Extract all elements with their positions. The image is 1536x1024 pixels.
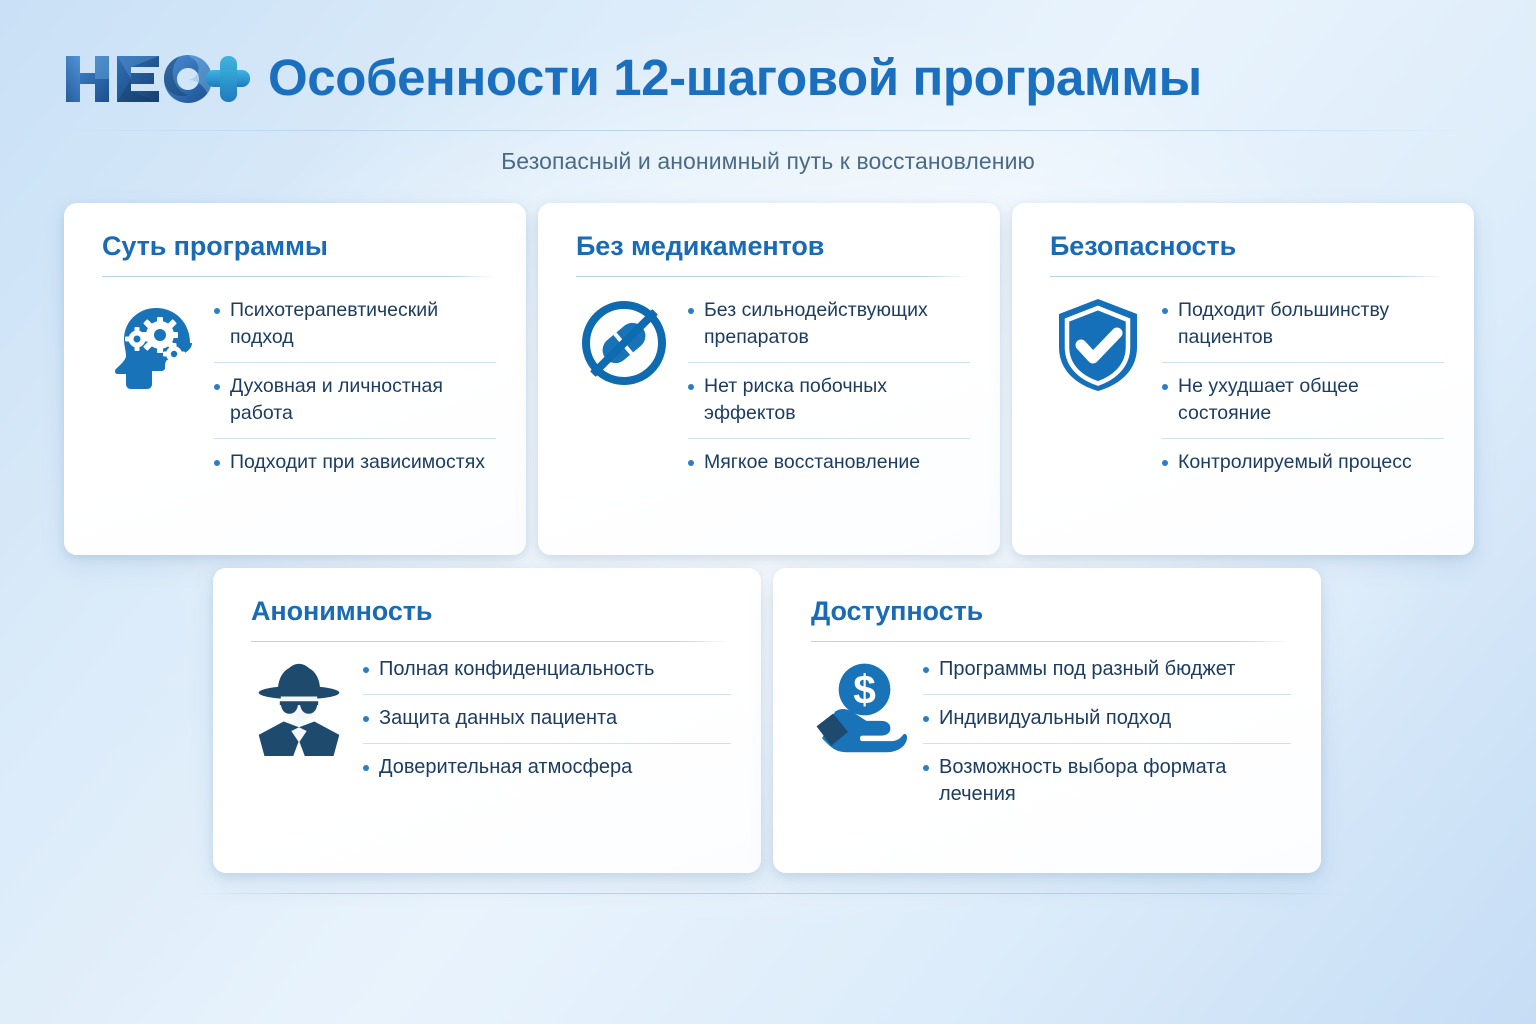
bullet-text: Духовная и личностная работа [230, 373, 496, 427]
bullet-dot-icon [1162, 384, 1168, 390]
bullet-item: Подходит большинству пациентов [1162, 295, 1444, 363]
bullet-text: Программы под разный бюджет [939, 656, 1291, 683]
bullet-dot-icon [363, 716, 369, 722]
header-divider [62, 130, 1474, 131]
card-anon: Анонимность [213, 568, 761, 873]
bullet-text: Подходит при зависимостях [230, 449, 496, 476]
bullet-dot-icon [688, 460, 694, 466]
bullet-item: Полная конфиденциальность [363, 654, 731, 695]
bullet-item: Психотерапевтический подход [214, 295, 496, 363]
card-title-divider [251, 641, 731, 642]
card-title-divider [811, 641, 1291, 642]
bullet-text: Возможность выбора формата лечения [939, 754, 1291, 808]
page-title: Особенности 12-шаговой программы [268, 46, 1202, 110]
bullet-item: Мягкое восстановление [688, 439, 970, 487]
neo-plus-logo [64, 52, 250, 106]
bullet-item: Не ухудшает общее состояние [1162, 363, 1444, 439]
bullet-text: Психотерапевтический подход [230, 297, 496, 351]
bullet-text: Подходит большинству пациентов [1178, 297, 1444, 351]
card-nomeds: Без медикаментов Без сильнодействующих п… [538, 203, 1000, 555]
bullet-text: Доверительная атмосфера [379, 754, 731, 781]
bullet-text: Индивидуальный подход [939, 705, 1291, 732]
bullet-list: Полная конфиденциальность Защита данных … [363, 652, 731, 792]
bullet-dot-icon [688, 384, 694, 390]
card-title: Безопасность [1050, 229, 1444, 263]
card-title: Доступность [811, 594, 1291, 628]
card-body: Психотерапевтический подход Духовная и л… [102, 293, 496, 535]
no-pills-icon [576, 293, 672, 389]
bullet-dot-icon [923, 716, 929, 722]
bullet-dot-icon [1162, 308, 1168, 314]
bullet-dot-icon [214, 308, 220, 314]
bullet-dot-icon [363, 667, 369, 673]
card-body: Без сильнодействующих препаратов Нет рис… [576, 293, 970, 535]
bullet-item: Подходит при зависимостях [214, 439, 496, 487]
bullet-dot-icon [214, 460, 220, 466]
page-subtitle: Безопасный и анонимный путь к восстановл… [0, 148, 1536, 175]
page-header: Особенности 12-шаговой программы [0, 0, 1536, 132]
card-safety: Безопасность Подходит большинству пациен… [1012, 203, 1474, 555]
card-body: Полная конфиденциальность Защита данных … [251, 652, 731, 853]
shield-check-icon [1050, 293, 1146, 389]
bullet-text: Полная конфиденциальность [379, 656, 731, 683]
bullet-dot-icon [1162, 460, 1168, 466]
bullet-item: Программы под разный бюджет [923, 654, 1291, 695]
bullet-item: Защита данных пациента [363, 695, 731, 744]
card-title-divider [576, 276, 970, 277]
bullet-text: Контролируемый процесс [1178, 449, 1444, 476]
bullet-text: Без сильнодействующих препаратов [704, 297, 970, 351]
card-title-divider [102, 276, 496, 277]
neo-plus-logo-icon [64, 52, 250, 106]
bullet-text: Нет риска побочных эффектов [704, 373, 970, 427]
bullet-item: Нет риска побочных эффектов [688, 363, 970, 439]
bullet-text: Защита данных пациента [379, 705, 731, 732]
hand-holding-coin-icon: $ [811, 652, 907, 748]
bullet-item: Возможность выбора формата лечения [923, 744, 1291, 819]
bullet-dot-icon [688, 308, 694, 314]
card-title: Анонимность [251, 594, 731, 628]
bullet-dot-icon [214, 384, 220, 390]
bullet-item: Индивидуальный подход [923, 695, 1291, 744]
bullet-item: Духовная и личностная работа [214, 363, 496, 439]
footer-divider [196, 893, 1341, 894]
bullet-dot-icon [923, 667, 929, 673]
card-title-divider [1050, 276, 1444, 277]
card-afford: Доступность $ Программы под разный бюдже… [773, 568, 1321, 873]
card-title: Без медикаментов [576, 229, 970, 263]
bullet-item: Доверительная атмосфера [363, 744, 731, 792]
card-body: $ Программы под разный бюджет Индивидуал… [811, 652, 1291, 853]
svg-text:$: $ [853, 666, 876, 712]
bullet-item: Контролируемый процесс [1162, 439, 1444, 487]
card-title: Суть программы [102, 229, 496, 263]
card-body: Подходит большинству пациентов Не ухудша… [1050, 293, 1444, 535]
bullet-text: Мягкое восстановление [704, 449, 970, 476]
bullet-text: Не ухудшает общее состояние [1178, 373, 1444, 427]
incognito-spy-icon [251, 652, 347, 748]
bullet-list: Без сильнодействующих препаратов Нет рис… [688, 293, 970, 487]
infographic-canvas: Особенности 12-шаговой программы Безопас… [0, 0, 1536, 1024]
card-essence: Суть программы [64, 203, 526, 555]
head-with-gears-icon [102, 293, 198, 389]
bullet-list: Психотерапевтический подход Духовная и л… [214, 293, 496, 487]
bullet-item: Без сильнодействующих препаратов [688, 295, 970, 363]
bullet-dot-icon [923, 765, 929, 771]
bullet-list: Подходит большинству пациентов Не ухудша… [1162, 293, 1444, 487]
bullet-list: Программы под разный бюджет Индивидуальн… [923, 652, 1291, 819]
bullet-dot-icon [363, 765, 369, 771]
